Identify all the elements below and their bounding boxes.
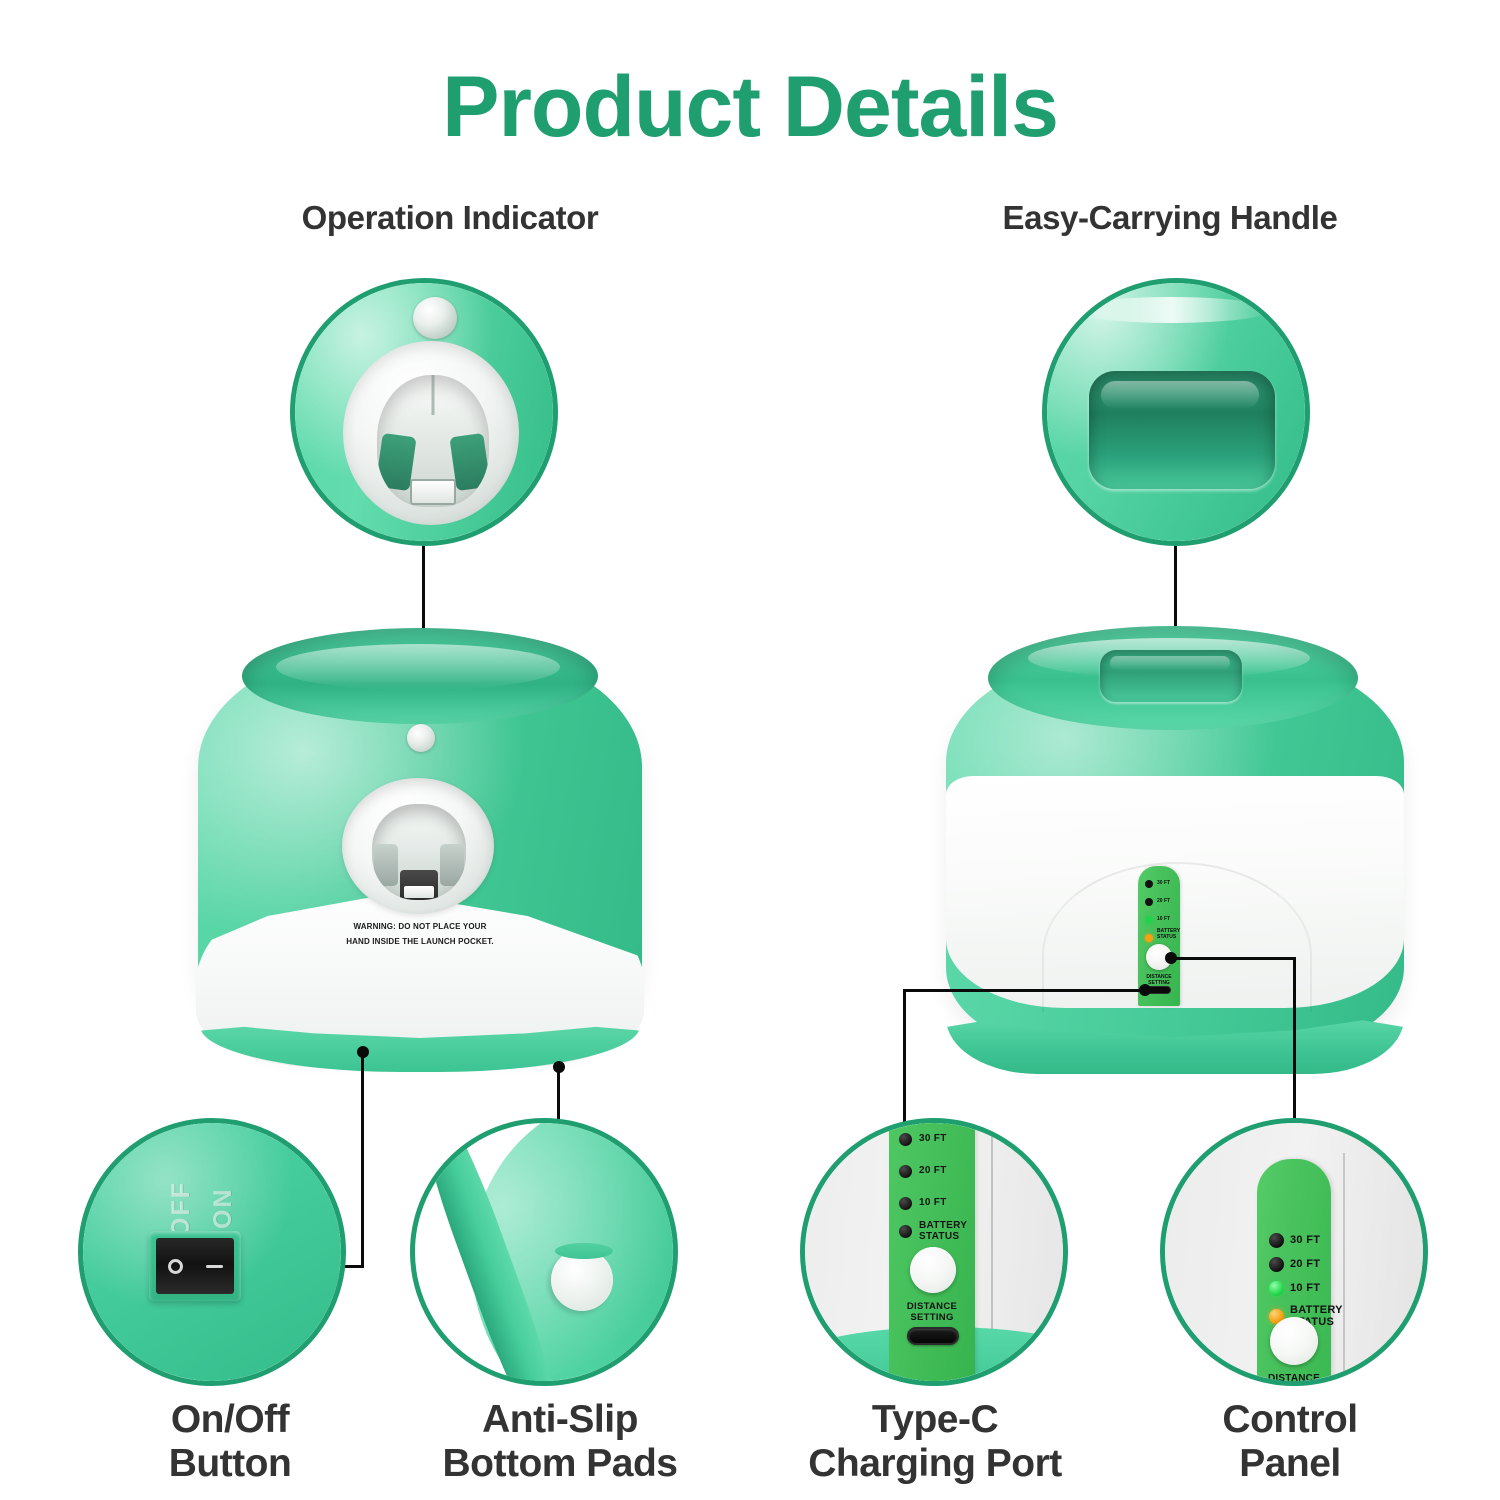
carrying-handle [1100,650,1242,702]
inset-anti-slip-pads-image [415,1123,673,1381]
distance-setting-label: DISTANCE SETTING [1251,1373,1337,1381]
battery-label-line-2: STATUS [1157,934,1176,940]
battery-label-line-2: STATUS [919,1231,959,1242]
caption-control-line-2: Panel [1120,1442,1460,1486]
heading-operation-indicator: Operation Indicator [180,199,720,237]
caption-onoff-line-1: On/Off [60,1398,400,1442]
motion-sensor-icon [407,724,435,752]
led-10ft-label: 10 FT [1157,917,1170,923]
control-panel-strip[interactable]: 30 FT 20 FT 10 FT BATTERY STATUS [1257,1159,1331,1381]
led-20ft [1269,1257,1284,1272]
led-10ft-label: 10 FT [1290,1283,1320,1295]
led-10ft [899,1197,912,1210]
led-20ft [899,1165,912,1178]
caption-type-c-charging-port: Type-C Charging Port [760,1398,1110,1485]
inset-type-c-charging-port-image: 30 FT 20 FT 10 FT BATTERY STATUS [805,1123,1063,1381]
led-20ft [1145,898,1153,906]
inset-operation-indicator [290,278,558,546]
bore-seam [432,375,435,415]
led-row-20ft: 20 FT [899,1165,947,1178]
warning-line-1: WARNING: DO NOT PLACE YOUR [310,920,530,935]
distance-setting-button[interactable] [1270,1317,1318,1365]
handle-slot [1089,371,1275,489]
shell-seam [1343,1153,1345,1381]
page-title: Product Details [0,58,1500,157]
anti-slip-pad [551,1249,613,1311]
inset-operation-indicator-image [295,283,553,541]
control-panel-strip[interactable]: 30 FT 20 FT 10 FT BATTERY STATUS [889,1123,975,1381]
connector-control-horizontal [1171,957,1296,960]
inset-control-panel-image: 30 FT 20 FT 10 FT BATTERY STATUS [1165,1123,1423,1381]
led-row-battery-status: BATTERY STATUS [899,1221,967,1242]
caption-pads-line-1: Anti-Slip [390,1398,730,1442]
led-row-30ft: 30 FT [1269,1233,1320,1248]
led-row-30ft: 30 FT [899,1133,947,1146]
inset-anti-slip-pads [410,1118,678,1386]
warning-text: WARNING: DO NOT PLACE YOUR HAND INSIDE T… [310,920,530,950]
connector-onoff-vertical [361,1052,364,1268]
switch-off-label: OFF [167,1181,196,1237]
launch-wheel-right [440,844,464,886]
inset-carrying-handle [1042,278,1310,546]
inset-type-c-charging-port: 30 FT 20 FT 10 FT BATTERY STATUS [800,1118,1068,1386]
led-20ft-label: 20 FT [1290,1259,1320,1271]
warning-line-2: HAND INSIDE THE LAUNCH POCKET. [310,935,530,950]
switch-on-label: ON [209,1188,238,1230]
led-20ft-label: 20 FT [1157,899,1170,905]
caption-control-panel: Control Panel [1120,1398,1460,1485]
launch-flap [400,870,438,900]
launch-pocket-ring [343,341,519,525]
led-10ft-label: 10 FT [919,1198,947,1209]
rocker-switch-bezel [149,1231,241,1301]
led-battery-status-label: BATTERY STATUS [1157,929,1180,940]
product-details-infographic: Product Details Operation Indicator Easy… [0,0,1500,1500]
connector-control-vertical [1293,957,1296,1127]
led-battery-status [1145,934,1153,942]
product-rear-view: 30 FT 20 FT 10 FT BATTERY STATUS DISTANC… [940,628,1410,1068]
launch-wheel-left [374,844,398,886]
launch-pocket-bore [377,375,489,507]
caption-control-line-1: Control [1120,1398,1460,1442]
led-10ft [1269,1281,1284,1296]
battery-label-line-1: BATTERY [919,1220,967,1231]
distance-setting-button[interactable] [910,1247,956,1293]
led-30ft-label: 30 FT [1157,881,1170,887]
inset-control-panel: 30 FT 20 FT 10 FT BATTERY STATUS [1160,1118,1428,1386]
led-30ft-label: 30 FT [1290,1235,1320,1247]
launch-pocket [342,778,494,914]
launch-flap [410,479,456,505]
led-30ft [899,1133,912,1146]
led-battery-status [899,1225,912,1238]
led-20ft-label: 20 FT [919,1166,947,1177]
launch-pocket-bore [372,804,466,900]
gloss-highlight [1071,297,1271,323]
caption-pads-line-2: Bottom Pads [390,1442,730,1486]
caption-onoff-line-2: Button [60,1442,400,1486]
product-front-view: WARNING: DO NOT PLACE YOUR HAND INSIDE T… [190,628,650,1068]
led-row-10ft: 10 FT [899,1197,947,1210]
led-10ft [1145,916,1153,924]
power-off-circle-icon [168,1259,183,1274]
heading-carrying-handle: Easy-Carrying Handle [900,199,1440,237]
connector-typec-horizontal [903,989,1145,992]
power-rocker-switch[interactable] [156,1238,234,1294]
led-battery-status-label: BATTERY STATUS [919,1221,967,1242]
led-30ft [1145,880,1153,888]
led-row-20ft: 20 FT [1269,1257,1320,1272]
inset-carrying-handle-image [1047,283,1305,541]
inset-onoff-button-image: OFF ON [83,1123,341,1381]
motion-sensor-icon [413,297,457,339]
power-on-bar-icon [206,1265,223,1268]
distance-setting-label: DISTANCE SETTING [889,1301,975,1323]
inset-onoff-button: OFF ON [78,1118,346,1386]
product-top-rim [242,628,598,724]
caption-typec-line-1: Type-C [760,1398,1110,1442]
led-30ft [1269,1233,1284,1248]
connector-typec-vertical [903,989,906,1129]
caption-anti-slip-pads: Anti-Slip Bottom Pads [390,1398,730,1485]
caption-typec-line-2: Charging Port [760,1442,1110,1486]
battery-label-line-1: BATTERY [1290,1304,1343,1316]
usb-c-port[interactable] [907,1327,959,1345]
caption-onoff-button: On/Off Button [60,1398,400,1485]
led-30ft-label: 30 FT [919,1134,947,1145]
led-row-10ft: 10 FT [1269,1281,1320,1296]
